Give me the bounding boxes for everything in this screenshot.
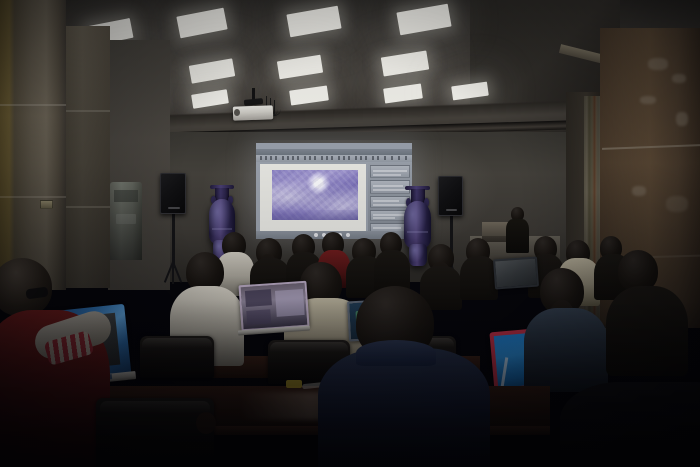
app-panel-history [370, 196, 410, 208]
wall-joint-line [64, 206, 110, 208]
pillar-joint-line [0, 104, 66, 106]
left-pillar-shadow [0, 0, 66, 290]
pillar-joint-line [0, 196, 66, 198]
projector-lens [234, 109, 240, 116]
laptop-photoshop[interactable] [238, 281, 309, 332]
speaker-right [438, 176, 463, 216]
app-panel-color [370, 180, 410, 194]
student-right-denim-body [524, 308, 608, 392]
hoodie-collar [356, 340, 436, 366]
artwork-lower-band [272, 210, 358, 220]
standing-presenter [506, 219, 529, 253]
speaker-left [160, 173, 186, 214]
wall-sign-plaque [40, 200, 53, 209]
vase-right-body [404, 201, 431, 249]
chair-knob [196, 412, 216, 434]
laptop-back-left[interactable] [493, 257, 539, 290]
laptop-ps-panel [246, 309, 271, 325]
projection-screen [256, 143, 412, 239]
chair-back [140, 336, 214, 378]
chair-foreground [96, 398, 214, 467]
vase-right-foot [409, 244, 427, 266]
app-panel-navigator [370, 165, 410, 178]
app-toolbar [256, 155, 412, 162]
student-right-rear-body [606, 286, 688, 376]
laptop-screen-accent [501, 357, 509, 387]
laptop-ps-panel [245, 289, 272, 307]
app-canvas-area [260, 164, 366, 231]
speaker-stand-pole [172, 212, 175, 268]
laptop-ps-canvas [275, 289, 305, 317]
vase-left-band [212, 228, 232, 230]
student-foreground-right-body [560, 382, 700, 467]
left-wall-panel-shadow [64, 26, 110, 288]
lecture-hall-photo [0, 0, 700, 467]
wall-joint-line [64, 110, 110, 112]
speaker-stand-leg [172, 262, 174, 284]
vase-right-band [407, 231, 428, 233]
air-conditioner-shadow [110, 182, 142, 260]
desk-yellow-object [286, 380, 302, 388]
